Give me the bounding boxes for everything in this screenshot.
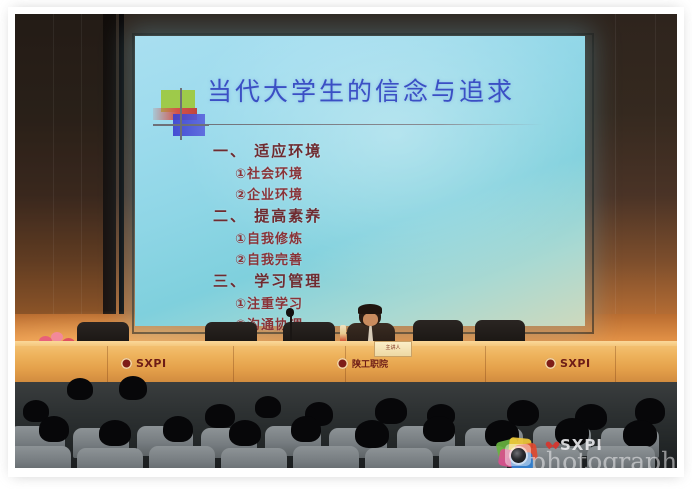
- circle-logo-icon: [121, 358, 132, 369]
- audience-seat: [77, 448, 143, 468]
- audience-seat: [149, 446, 215, 468]
- podium-logo-center: 陕工职院: [337, 356, 388, 370]
- outline-item: ②自我完善: [235, 249, 543, 268]
- audience-head: [423, 416, 455, 442]
- outline-item: ①注重学习: [235, 293, 543, 312]
- slide-deco-block: [153, 88, 211, 140]
- podium-seam: [615, 346, 616, 386]
- deco-vertical-line: [180, 88, 182, 140]
- audience-head: [119, 376, 147, 400]
- circle-logo-icon: [545, 358, 556, 369]
- podium-logo-left: SXPI: [121, 356, 167, 370]
- circle-logo-icon: [337, 358, 348, 369]
- hall-pillar-edge: [119, 14, 124, 352]
- speaker-face: [363, 313, 378, 326]
- audience-head: [229, 420, 261, 446]
- audience-seat: [15, 446, 71, 468]
- outline-item: ①社会环境: [235, 163, 543, 182]
- watermark: SXPI photography: [497, 434, 677, 468]
- podium-logo-label: SXPI: [136, 357, 167, 370]
- wall-seam: [655, 14, 656, 344]
- microphone-icon: [286, 308, 294, 317]
- hall-pillar: [103, 14, 116, 349]
- projection-screen: 当代大学生的信念与追求 一、 适应环境 ①社会环境 ②企业环境 二、 提高素养 …: [135, 36, 585, 326]
- microphone-stem: [290, 314, 292, 344]
- audience-head: [39, 416, 69, 442]
- photo-frame: 当代大学生的信念与追求 一、 适应环境 ①社会环境 ②企业环境 二、 提高素养 …: [0, 0, 692, 489]
- speaker-hair: [358, 304, 382, 314]
- podium-seam: [107, 346, 108, 386]
- outline-item: ①自我修炼: [235, 228, 543, 247]
- camera-lens-icon: [511, 448, 526, 463]
- wall-seam: [53, 14, 54, 344]
- audience-seat: [293, 446, 359, 468]
- audience-head: [67, 378, 93, 400]
- wall-seam: [615, 14, 616, 344]
- slide-title: 当代大学生的信念与追求: [207, 72, 567, 108]
- outline-item: 三、 学习管理: [213, 270, 543, 291]
- audience-seat: [221, 448, 287, 468]
- audience-head: [375, 398, 407, 424]
- podium-seam: [233, 346, 234, 386]
- speaker-nameplate: 主讲人: [374, 341, 412, 357]
- wall-panel-left: [15, 14, 105, 346]
- wall-seam: [81, 14, 82, 344]
- photograph: 当代大学生的信念与追求 一、 适应环境 ①社会环境 ②企业环境 二、 提高素养 …: [15, 14, 677, 468]
- audience-head: [255, 396, 281, 418]
- podium-logo-right: SXPI: [545, 356, 591, 370]
- audience-head: [355, 420, 389, 448]
- watermark-tagline: photography: [530, 447, 677, 468]
- photo-white-border: 当代大学生的信念与追求 一、 适应环境 ①社会环境 ②企业环境 二、 提高素养 …: [8, 7, 684, 477]
- slide-title-rule: [183, 124, 543, 125]
- podium-logo-label: SXPI: [560, 357, 591, 370]
- outline-item: ②企业环境: [235, 184, 543, 203]
- audience-seat: [365, 448, 433, 468]
- audience-head: [205, 404, 235, 428]
- outline-item: 一、 适应环境: [213, 140, 543, 161]
- outline-item: 二、 提高素养: [213, 205, 543, 226]
- podium-seam: [485, 346, 486, 386]
- audience-head: [99, 420, 131, 446]
- podium-logo-label: 陕工职院: [352, 357, 388, 370]
- audience-head: [163, 416, 193, 442]
- audience-head: [291, 416, 321, 442]
